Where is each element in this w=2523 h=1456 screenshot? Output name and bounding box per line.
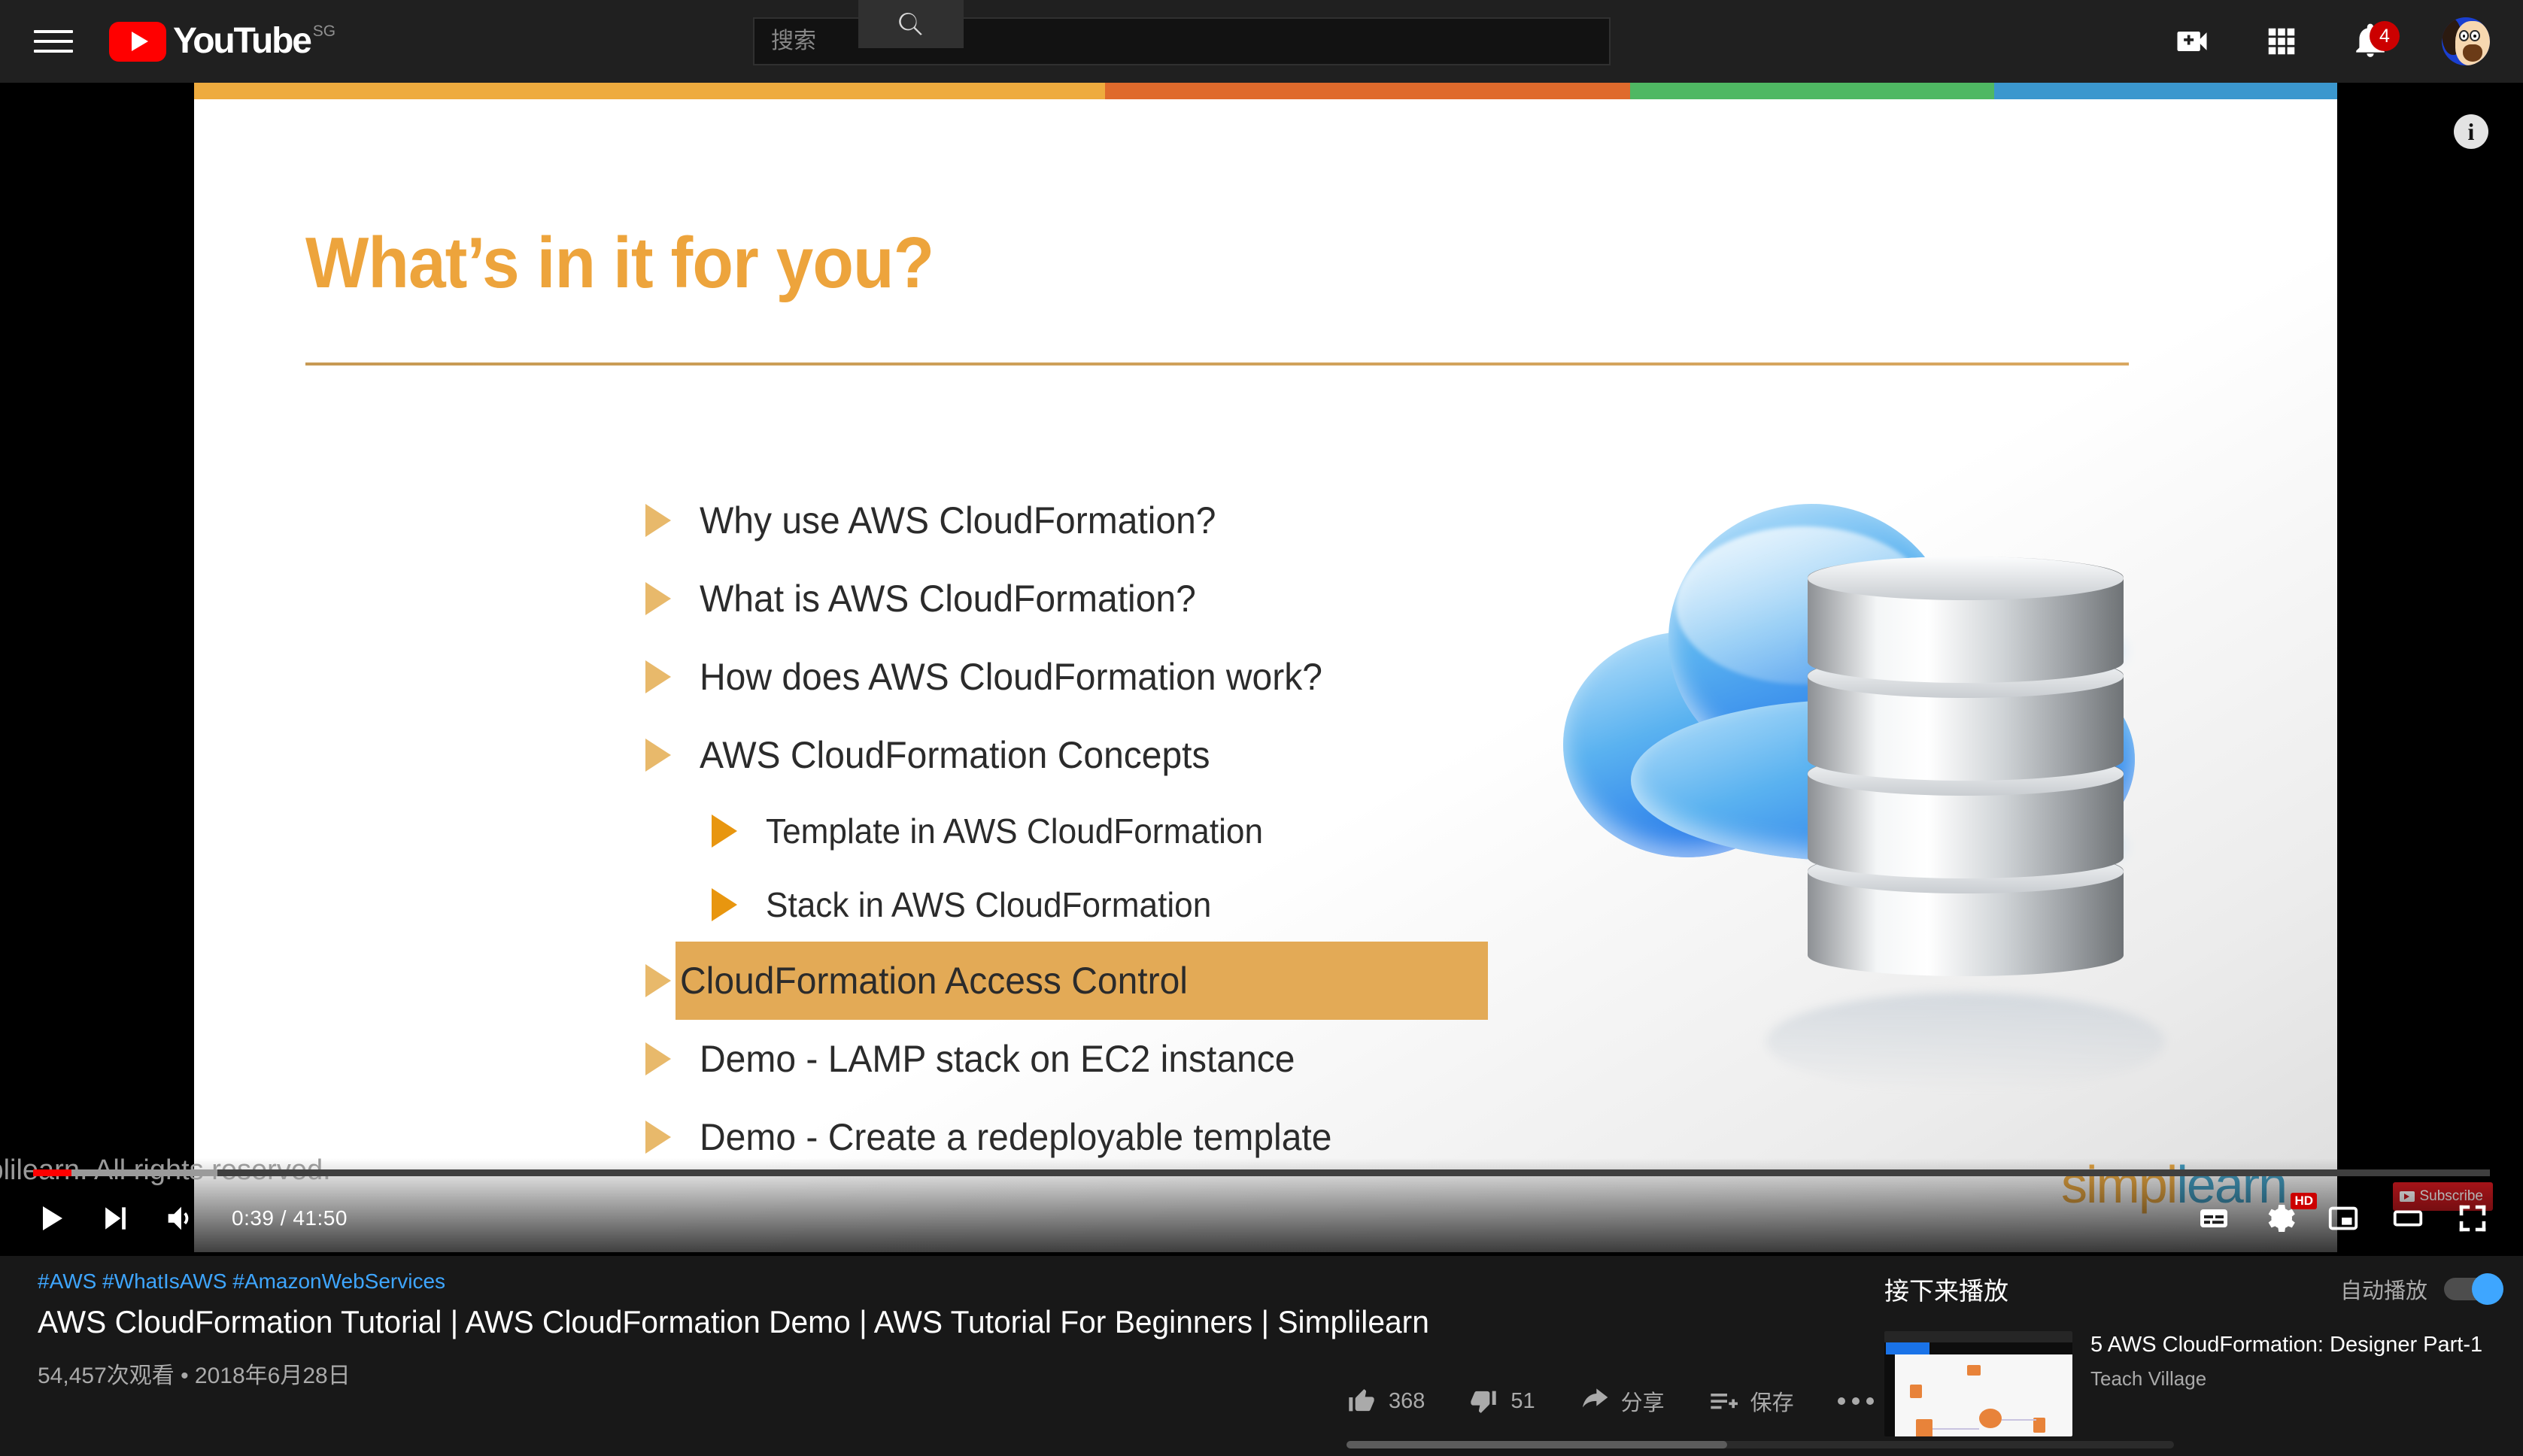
triangle-bullet-icon <box>645 660 671 693</box>
save-label: 保存 <box>1750 1385 1794 1417</box>
autoplay-label: 自动播放 <box>2340 1273 2427 1305</box>
youtube-play-icon <box>109 22 166 62</box>
up-next-video-title: 5 AWS CloudFormation: Designer Part-1 <box>2090 1331 2482 1358</box>
share-button[interactable]: 分享 <box>1579 1385 1665 1417</box>
up-next-header: 接下来播放 自动播放 <box>1884 1271 2501 1307</box>
up-next-channel: Teach Village <box>2090 1367 2482 1391</box>
bullet-label: Template in AWS CloudFormation <box>766 811 1263 851</box>
timecode: 0:39 / 41:50 <box>232 1206 348 1230</box>
video-player[interactable]: What’s in it for you? Why use AWS CloudF… <box>0 83 2523 1256</box>
color-segment-orange <box>194 83 1105 99</box>
save-to-playlist-icon <box>1708 1386 1738 1416</box>
triangle-bullet-icon <box>645 1042 671 1075</box>
played-progress <box>33 1169 71 1176</box>
like-count: 368 <box>1389 1389 1425 1414</box>
thumbs-down-icon <box>1468 1386 1498 1416</box>
cloudformation-designer-thumbnail <box>1884 1331 2072 1436</box>
avatar[interactable] <box>2442 17 2490 65</box>
quality-badge: HD <box>2291 1193 2317 1209</box>
bell-icon[interactable]: 4 <box>2351 23 2389 60</box>
fullscreen-icon[interactable] <box>2440 1181 2505 1256</box>
up-next-heading: 接下来播放 <box>1884 1271 2008 1307</box>
video-primary-info: #AWS #WhatIsAWS #AmazonWebServices AWS C… <box>38 1269 1805 1390</box>
settings-gear-icon[interactable]: HD <box>2246 1181 2311 1256</box>
create-video-icon[interactable] <box>2172 22 2212 61</box>
bullet-label: AWS CloudFormation Concepts <box>700 733 1210 777</box>
video-actions: 368 51 分享 保存 <box>1347 1385 1874 1417</box>
search-button[interactable] <box>858 0 964 48</box>
video-hashtags[interactable]: #AWS #WhatIsAWS #AmazonWebServices <box>38 1269 1805 1294</box>
bullet-label: What is AWS CloudFormation? <box>700 577 1196 620</box>
autoplay-control[interactable]: 自动播放 <box>2340 1273 2501 1305</box>
share-label: 分享 <box>1621 1385 1665 1417</box>
cloud-database-icon <box>1541 369 2293 1060</box>
list-item[interactable]: 5 AWS CloudFormation: Designer Part-1 Te… <box>1884 1331 2501 1436</box>
title-divider <box>305 362 2129 366</box>
player-controls: 0:39 / 41:50 HD <box>0 1181 2523 1256</box>
hamburger-icon[interactable] <box>34 22 73 61</box>
header-actions: 4 <box>2172 0 2490 83</box>
bullet-label: How does AWS CloudFormation work? <box>700 655 1322 699</box>
triangle-bullet-icon <box>645 964 671 997</box>
progress-bar[interactable] <box>33 1169 2490 1176</box>
triangle-bullet-icon <box>645 739 671 772</box>
horizontal-scrollbar[interactable] <box>1347 1441 2174 1448</box>
autoplay-toggle[interactable] <box>2444 1278 2501 1300</box>
volume-icon[interactable] <box>147 1181 212 1256</box>
notification-count-badge: 4 <box>2370 21 2400 51</box>
theater-mode-icon[interactable] <box>2376 1181 2440 1256</box>
apps-grid-icon[interactable] <box>2264 24 2299 59</box>
like-button[interactable]: 368 <box>1347 1386 1425 1416</box>
triangle-bullet-icon <box>645 504 671 537</box>
triangle-bullet-icon <box>712 814 737 848</box>
share-icon <box>1579 1386 1609 1416</box>
color-segment-red <box>1105 83 1630 99</box>
triangle-bullet-icon <box>645 582 671 615</box>
more-options-icon[interactable] <box>1838 1397 1874 1405</box>
color-segment-green <box>1630 83 1994 99</box>
thumbs-up-icon <box>1347 1386 1377 1416</box>
color-segment-blue <box>1994 83 2337 99</box>
next-video-icon[interactable] <box>83 1181 147 1256</box>
dislike-count: 51 <box>1510 1389 1535 1414</box>
youtube-logo-text: YouTube <box>173 22 311 61</box>
dislike-button[interactable]: 51 <box>1468 1386 1535 1416</box>
search-icon <box>896 9 926 39</box>
triangle-bullet-icon <box>645 1121 671 1154</box>
subtitles-icon[interactable] <box>2181 1181 2246 1256</box>
youtube-logo[interactable]: YouTube SG <box>109 22 335 62</box>
play-icon[interactable] <box>18 1181 83 1256</box>
save-button[interactable]: 保存 <box>1708 1385 1794 1417</box>
video-frame-slide: What’s in it for you? Why use AWS CloudF… <box>194 83 2337 1252</box>
bullet-label: Demo - LAMP stack on EC2 instance <box>700 1037 1295 1081</box>
masthead: YouTube SG <box>0 0 2523 83</box>
bullet-label: Why use AWS CloudFormation? <box>700 499 1216 542</box>
bullet-label: CloudFormation Access Control <box>680 959 1188 1003</box>
page-title: AWS CloudFormation Tutorial | AWS CloudF… <box>38 1304 1753 1340</box>
info-icon[interactable]: i <box>2454 114 2488 149</box>
bullet-label: Demo - Create a redeployable template <box>700 1115 1331 1159</box>
up-next-panel: 接下来播放 自动播放 5 AWS CloudFormation: Designe… <box>1884 1271 2501 1436</box>
bullet-item-highlighted: CloudFormation Access Control <box>676 942 1488 1020</box>
triangle-bullet-icon <box>712 888 737 921</box>
country-code: SG <box>313 23 335 40</box>
slide-color-bar <box>194 83 2337 99</box>
bullet-label: Stack in AWS CloudFormation <box>766 884 1211 925</box>
miniplayer-icon[interactable] <box>2311 1181 2376 1256</box>
slide-title: What’s in it for you? <box>305 222 934 305</box>
